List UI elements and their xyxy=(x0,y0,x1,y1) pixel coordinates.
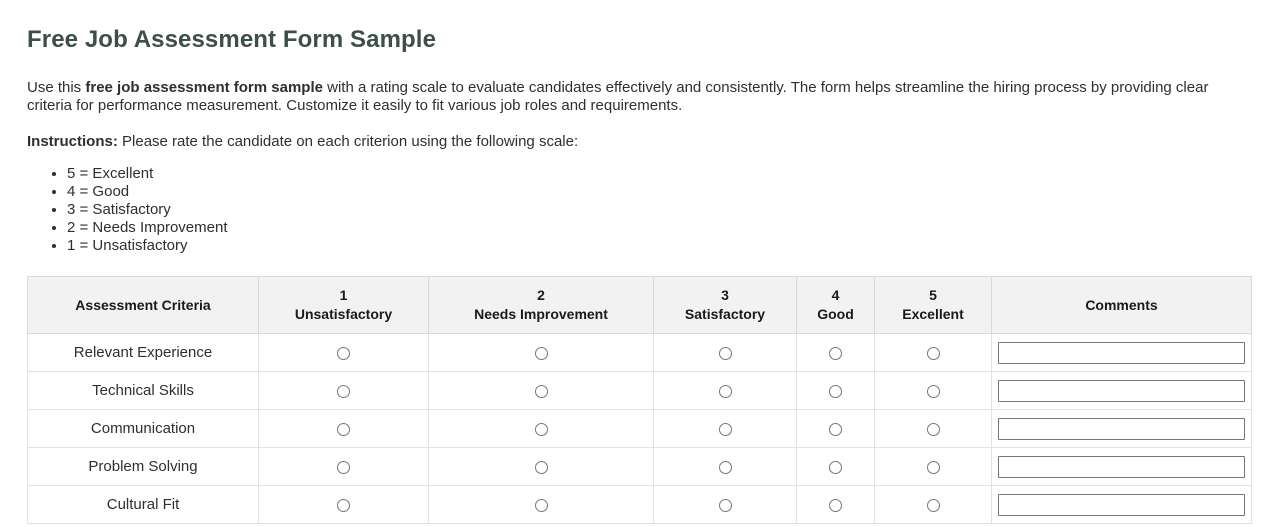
radio-button-score-2[interactable] xyxy=(535,347,548,360)
criteria-label: Problem Solving xyxy=(28,448,259,486)
comments-cell[interactable] xyxy=(992,334,1252,372)
rating-scale-list: 5 = Excellent 4 = Good 3 = Satisfactory … xyxy=(27,165,1251,255)
rating-cell-2[interactable] xyxy=(429,486,654,524)
column-header-score-4: 4Good xyxy=(797,277,875,334)
rating-cell-5[interactable] xyxy=(875,410,992,448)
comment-input[interactable] xyxy=(998,456,1245,478)
rating-cell-5[interactable] xyxy=(875,334,992,372)
column-header-number: 3 xyxy=(721,287,729,303)
column-header-score-1: 1Unsatisfactory xyxy=(259,277,429,334)
rating-cell-2[interactable] xyxy=(429,410,654,448)
table-row: Communication xyxy=(28,410,1252,448)
radio-button-score-3[interactable] xyxy=(719,423,732,436)
intro-bold-phrase: free job assessment form sample xyxy=(85,79,323,96)
criteria-label: Technical Skills xyxy=(28,372,259,410)
radio-button-score-3[interactable] xyxy=(719,385,732,398)
rating-cell-5[interactable] xyxy=(875,486,992,524)
intro-prefix: Use this xyxy=(27,79,85,96)
radio-button-score-4[interactable] xyxy=(829,423,842,436)
radio-button-score-4[interactable] xyxy=(829,385,842,398)
radio-button-score-3[interactable] xyxy=(719,347,732,360)
criteria-label: Relevant Experience xyxy=(28,334,259,372)
rating-cell-3[interactable] xyxy=(654,372,797,410)
rating-cell-1[interactable] xyxy=(259,410,429,448)
rating-cell-4[interactable] xyxy=(797,334,875,372)
list-item: 1 = Unsatisfactory xyxy=(67,237,1251,255)
column-header-number: 4 xyxy=(832,287,840,303)
radio-button-score-2[interactable] xyxy=(535,423,548,436)
table-header: Assessment Criteria 1Unsatisfactory 2Nee… xyxy=(28,277,1252,334)
radio-button-score-4[interactable] xyxy=(829,461,842,474)
radio-button-score-5[interactable] xyxy=(927,499,940,512)
column-header-number: 1 xyxy=(340,287,348,303)
rating-cell-5[interactable] xyxy=(875,448,992,486)
comment-input[interactable] xyxy=(998,380,1245,402)
table-row: Relevant Experience xyxy=(28,334,1252,372)
rating-cell-2[interactable] xyxy=(429,334,654,372)
radio-button-score-1[interactable] xyxy=(337,423,350,436)
column-header-label: Excellent xyxy=(902,306,963,322)
column-header-comments: Comments xyxy=(992,277,1252,334)
rating-cell-3[interactable] xyxy=(654,448,797,486)
radio-button-score-4[interactable] xyxy=(829,499,842,512)
criteria-label: Communication xyxy=(28,410,259,448)
rating-cell-4[interactable] xyxy=(797,372,875,410)
rating-cell-2[interactable] xyxy=(429,448,654,486)
rating-cell-3[interactable] xyxy=(654,410,797,448)
column-header-label: Unsatisfactory xyxy=(295,306,392,322)
list-item: 2 = Needs Improvement xyxy=(67,219,1251,237)
radio-button-score-3[interactable] xyxy=(719,461,732,474)
rating-cell-1[interactable] xyxy=(259,448,429,486)
column-header-label: Needs Improvement xyxy=(474,306,608,322)
column-header-label: Assessment Criteria xyxy=(75,297,210,313)
rating-cell-5[interactable] xyxy=(875,372,992,410)
radio-button-score-5[interactable] xyxy=(927,385,940,398)
rating-cell-1[interactable] xyxy=(259,372,429,410)
instructions-label: Instructions: xyxy=(27,133,118,150)
table-row: Problem Solving xyxy=(28,448,1252,486)
rating-cell-3[interactable] xyxy=(654,486,797,524)
column-header-score-2: 2Needs Improvement xyxy=(429,277,654,334)
radio-button-score-1[interactable] xyxy=(337,461,350,474)
rating-cell-1[interactable] xyxy=(259,486,429,524)
table-row: Cultural Fit xyxy=(28,486,1252,524)
radio-button-score-1[interactable] xyxy=(337,499,350,512)
comment-input[interactable] xyxy=(998,418,1245,440)
rating-cell-4[interactable] xyxy=(797,410,875,448)
comment-input[interactable] xyxy=(998,342,1245,364)
intro-paragraph: Use this free job assessment form sample… xyxy=(27,79,1251,115)
column-header-label: Good xyxy=(817,306,854,322)
radio-button-score-2[interactable] xyxy=(535,461,548,474)
rating-cell-3[interactable] xyxy=(654,334,797,372)
table-body: Relevant ExperienceTechnical SkillsCommu… xyxy=(28,334,1252,524)
page-container: Free Job Assessment Form Sample Use this… xyxy=(0,26,1278,524)
radio-button-score-4[interactable] xyxy=(829,347,842,360)
radio-button-score-1[interactable] xyxy=(337,347,350,360)
assessment-table: Assessment Criteria 1Unsatisfactory 2Nee… xyxy=(27,276,1252,524)
comment-input[interactable] xyxy=(998,494,1245,516)
rating-cell-4[interactable] xyxy=(797,448,875,486)
column-header-label: Comments xyxy=(1085,297,1157,313)
list-item: 4 = Good xyxy=(67,183,1251,201)
comments-cell[interactable] xyxy=(992,448,1252,486)
radio-button-score-5[interactable] xyxy=(927,461,940,474)
radio-button-score-3[interactable] xyxy=(719,499,732,512)
column-header-criteria: Assessment Criteria xyxy=(28,277,259,334)
radio-button-score-5[interactable] xyxy=(927,347,940,360)
column-header-label: Satisfactory xyxy=(685,306,765,322)
instructions-paragraph: Instructions: Please rate the candidate … xyxy=(27,133,1251,151)
page-title: Free Job Assessment Form Sample xyxy=(27,26,1251,54)
instructions-text: Please rate the candidate on each criter… xyxy=(118,133,578,150)
rating-cell-4[interactable] xyxy=(797,486,875,524)
radio-button-score-2[interactable] xyxy=(535,499,548,512)
column-header-score-3: 3Satisfactory xyxy=(654,277,797,334)
radio-button-score-5[interactable] xyxy=(927,423,940,436)
column-header-score-5: 5Excellent xyxy=(875,277,992,334)
radio-button-score-1[interactable] xyxy=(337,385,350,398)
table-header-row: Assessment Criteria 1Unsatisfactory 2Nee… xyxy=(28,277,1252,334)
comments-cell[interactable] xyxy=(992,372,1252,410)
criteria-label: Cultural Fit xyxy=(28,486,259,524)
column-header-number: 5 xyxy=(929,287,937,303)
comments-cell[interactable] xyxy=(992,486,1252,524)
rating-cell-2[interactable] xyxy=(429,372,654,410)
list-item: 3 = Satisfactory xyxy=(67,201,1251,219)
list-item: 5 = Excellent xyxy=(67,165,1251,183)
radio-button-score-2[interactable] xyxy=(535,385,548,398)
table-row: Technical Skills xyxy=(28,372,1252,410)
comments-cell[interactable] xyxy=(992,410,1252,448)
column-header-number: 2 xyxy=(537,287,545,303)
rating-cell-1[interactable] xyxy=(259,334,429,372)
